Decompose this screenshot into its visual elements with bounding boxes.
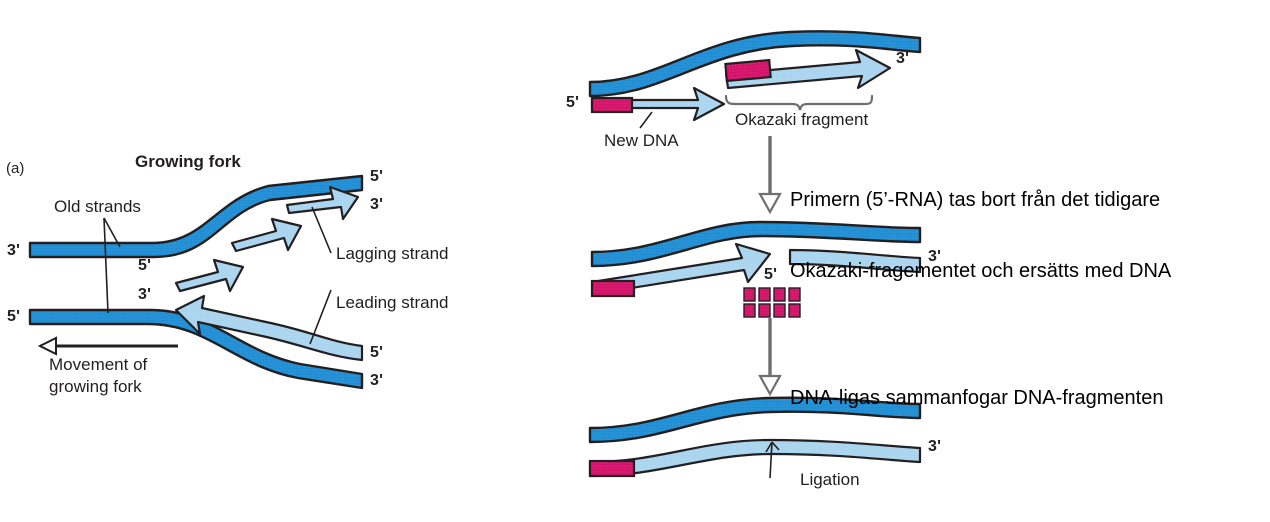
transition-arrow-1 (760, 136, 780, 212)
leader-lagging-strand (312, 207, 331, 253)
panel-a-tag: (a) (6, 160, 24, 178)
leader-new-dna (640, 112, 652, 128)
prime-label-upper-right-arrow: 3' (370, 196, 383, 215)
transition-arrow-2 (760, 318, 780, 394)
ligation-label: Ligation (800, 470, 860, 490)
okazaki-fragment-brace (726, 96, 872, 110)
stage1-rna-primer-right (725, 60, 770, 81)
step-1-line-1: Primern (5’-RNA) tas bort från det tidig… (790, 189, 1171, 213)
fork-movement-label-line1: Movement of (49, 355, 147, 375)
stage1-okazaki-fragment (725, 50, 890, 88)
stage2-prime-right: 3' (928, 248, 941, 267)
lagging-strand-arrow-2 (232, 219, 301, 251)
okazaki-fragment-label: Okazaki fragment (735, 110, 868, 130)
step-2-text: DNA-ligas sammanfogar DNA-fragmenten (790, 340, 1163, 434)
stage3-ligated-new-strand (590, 440, 920, 476)
stage3-rna-primer (590, 461, 634, 476)
prime-label-upper-left: 3' (7, 242, 20, 261)
lagging-strand-arrow-1 (176, 260, 243, 291)
leader-old-strands-lower (104, 218, 108, 313)
lagging-strand-label: Lagging strand (336, 244, 448, 264)
leading-strand-label: Leading strand (336, 293, 448, 313)
stage3-prime-right: 3' (928, 438, 941, 457)
new-dna-label: New DNA (604, 131, 679, 151)
stage1-prime-left: 5' (566, 94, 579, 113)
prime-label-upper-right-template: 5' (370, 168, 383, 187)
prime-label-fork-upper: 5' (138, 257, 151, 276)
stage2-prime-middle: 5' (764, 266, 777, 285)
fork-movement-label-line2: growing fork (49, 377, 142, 397)
step-2-line-1: DNA-ligas sammanfogar DNA-fragmenten (790, 387, 1163, 411)
stage1-rna-primer-left (592, 98, 632, 112)
old-strands-label: Old strands (54, 197, 141, 217)
step-1-text: Primern (5’-RNA) tas bort från det tidig… (790, 142, 1171, 307)
panel-a-title: Growing fork (135, 152, 241, 172)
prime-label-lower-right-new: 5' (370, 344, 383, 363)
stage2-rna-primer (592, 281, 634, 296)
step-1-line-2: Okazaki-fragementet och ersätts med DNA (790, 260, 1171, 284)
prime-label-lower-left: 5' (7, 308, 20, 327)
fork-movement-arrow (40, 338, 178, 354)
prime-label-fork-lower: 3' (138, 286, 151, 305)
stage1-prime-right: 3' (896, 50, 909, 69)
prime-label-lower-right-template: 3' (370, 372, 383, 391)
